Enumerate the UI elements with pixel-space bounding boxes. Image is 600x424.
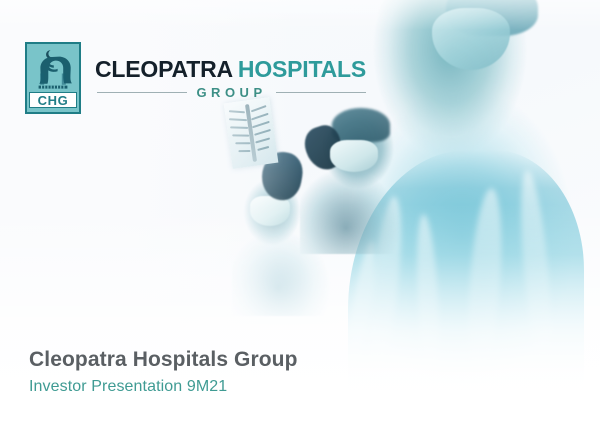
surgical-mask-icon	[330, 140, 378, 172]
page-title: Cleopatra Hospitals Group	[29, 348, 298, 372]
wordmark-rule-right	[276, 92, 366, 93]
chg-monogram: CHG	[29, 92, 77, 108]
chg-logo-mark: CHG	[25, 42, 81, 114]
wordmark-rule-left	[97, 92, 187, 93]
brand-logo-lockup: CHG CLEOPATRAHOSPITALS GROUP	[25, 42, 366, 114]
wordmark-primary-line: CLEOPATRAHOSPITALS	[95, 58, 366, 81]
wordmark-secondary-line: GROUP	[95, 86, 366, 99]
cover-title-block: Cleopatra Hospitals Group Investor Prese…	[29, 348, 298, 396]
page-subtitle: Investor Presentation 9M21	[29, 377, 298, 396]
cleopatra-head-silhouette-icon	[30, 48, 76, 92]
top-white-scrim	[0, 0, 600, 30]
wordmark-cleopatra: CLEOPATRA	[95, 56, 233, 82]
wordmark-group: GROUP	[196, 86, 266, 99]
wordmark-hospitals: HOSPITALS	[238, 56, 366, 82]
presentation-cover-slide: CHG CLEOPATRAHOSPITALS GROUP Cleopatra H…	[0, 0, 600, 424]
brand-wordmark: CLEOPATRAHOSPITALS GROUP	[95, 58, 366, 99]
